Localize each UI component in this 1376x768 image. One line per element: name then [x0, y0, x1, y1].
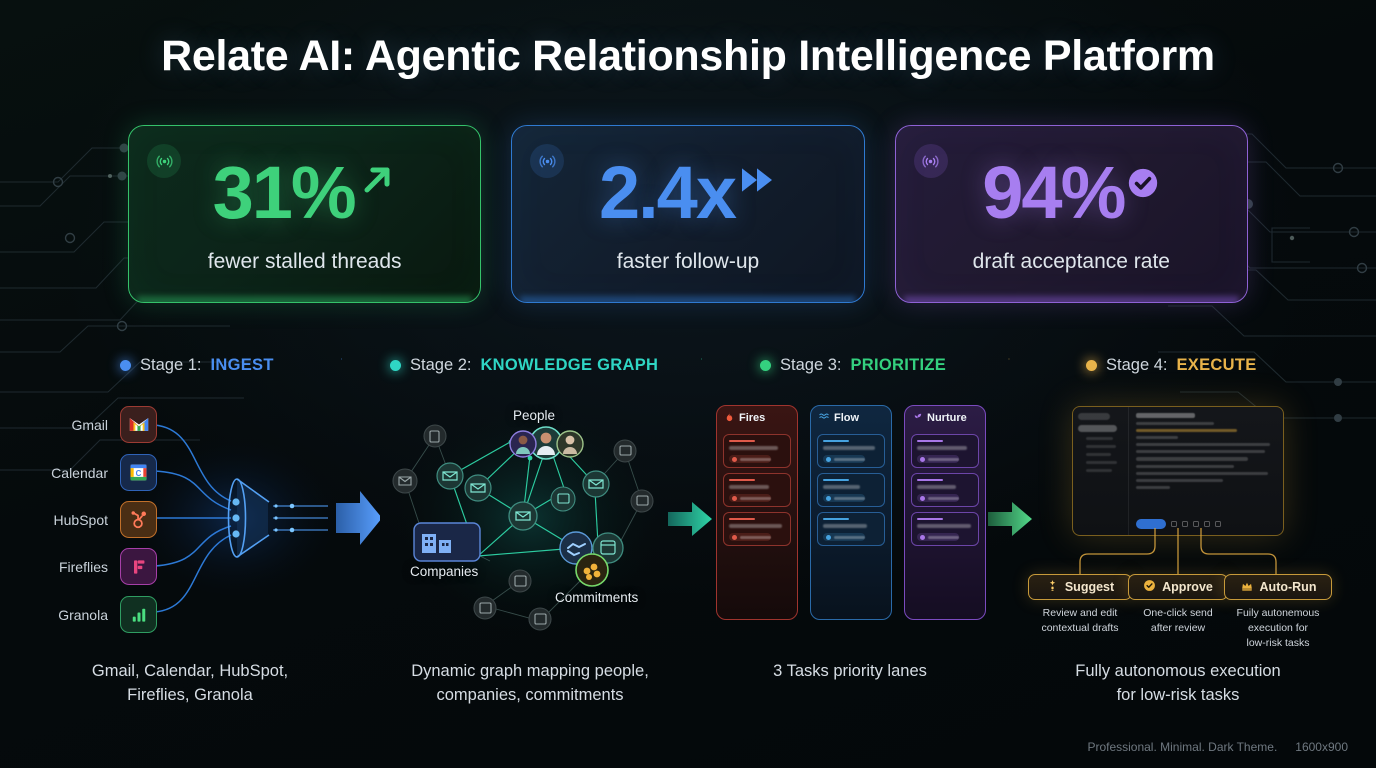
stage-prefix: Stage 4: — [1106, 356, 1167, 375]
mail-nav-line — [1086, 445, 1116, 448]
mail-subject — [1136, 413, 1195, 418]
task-card[interactable] — [911, 512, 979, 546]
stage-prefix: Stage 2: — [410, 356, 471, 375]
stage-header-strip: Stage 1: INGEST Stage 2: KNOWLEDGE GRAPH… — [0, 356, 1376, 382]
mail-line — [1136, 465, 1234, 468]
stage-dot-2 — [390, 360, 401, 371]
task-card[interactable] — [723, 473, 791, 507]
fireflies-icon — [120, 548, 157, 585]
mail-recipient — [1136, 422, 1214, 425]
image-icon[interactable] — [1204, 521, 1210, 527]
stage-label-1: Stage 1: INGEST — [120, 356, 274, 375]
source-row-hubspot[interactable]: HubSpot — [32, 501, 157, 538]
link-icon[interactable] — [1182, 521, 1188, 527]
schedule-icon[interactable] — [1215, 521, 1221, 527]
priority-lane-nurture[interactable]: Nurture — [904, 405, 986, 620]
footer-size: 1600x900 — [1295, 740, 1348, 754]
mail-highlight — [1136, 429, 1237, 432]
stage-key: KNOWLEDGE GRAPH — [480, 356, 658, 375]
mail-nav-item[interactable] — [1078, 425, 1117, 432]
kpi-value: 94% — [896, 156, 1247, 230]
slide-canvas: Relate AI: Agentic Relationship Intellig… — [0, 0, 1376, 768]
source-row-granola[interactable]: Granola — [32, 596, 157, 633]
mail-line — [1136, 443, 1270, 446]
kpi-value: 2.4x — [512, 156, 863, 230]
circuit-background — [0, 0, 1376, 768]
task-card[interactable] — [723, 434, 791, 468]
lane-title: Fires — [739, 412, 765, 424]
action-label: Approve — [1162, 580, 1213, 594]
hubspot-icon — [120, 501, 157, 538]
mail-nav-line — [1086, 461, 1117, 464]
mail-nav-line — [1086, 437, 1113, 440]
stage-prefix: Stage 3: — [780, 356, 841, 375]
kpi-value: 31% — [129, 156, 480, 230]
stage-3-caption: 3 Tasks priority lanes — [700, 660, 1000, 684]
kpi-label: faster follow-up — [512, 250, 863, 274]
task-card[interactable] — [817, 512, 885, 546]
mail-nav-item[interactable] — [1078, 413, 1110, 420]
graph-label-commitments: Commitments — [555, 590, 638, 605]
flame-icon — [724, 411, 735, 425]
stage-label-4: Stage 4: EXECUTE — [1086, 356, 1257, 375]
attach-icon[interactable] — [1171, 521, 1177, 527]
action-button-suggest[interactable]: Suggest — [1028, 574, 1132, 600]
stage-4-execute-panel: Suggest Review and edit contextual draft… — [1000, 396, 1360, 644]
source-row-fireflies[interactable]: Fireflies — [32, 548, 157, 585]
stage-4-caption: Fully autonomous execution for low-risk … — [1028, 660, 1328, 708]
fast-forward-icon — [737, 138, 777, 212]
stage-label-3: Stage 3: PRIORITIZE — [760, 356, 946, 375]
check-circle-icon — [1143, 579, 1156, 595]
priority-lane-flow[interactable]: Flow — [810, 405, 892, 620]
task-card[interactable] — [723, 512, 791, 546]
svg-text:C: C — [136, 469, 142, 478]
gmail-icon — [120, 406, 157, 443]
source-label: Calendar — [32, 465, 108, 481]
lane-header: Flow — [811, 406, 891, 429]
task-card[interactable] — [911, 434, 979, 468]
source-label: Granola — [32, 607, 108, 623]
action-button-auto-run[interactable]: Auto-Run — [1224, 574, 1332, 600]
kpi-card-draft-acceptance-rate: 94% draft acceptance rate — [895, 125, 1248, 303]
action-button-approve[interactable]: Approve — [1128, 574, 1228, 600]
stage-3-prioritize-panel: Fires Flow — [716, 405, 986, 630]
email-draft-window[interactable] — [1072, 406, 1284, 536]
stage-arrow-1-2 — [285, 358, 389, 360]
mail-nav-line — [1086, 469, 1112, 472]
stage-prefix: Stage 1: — [140, 356, 201, 375]
stage-arrow-3-4 — [945, 358, 1063, 360]
mail-line — [1136, 436, 1178, 439]
mail-line — [1136, 450, 1265, 453]
mail-body — [1129, 407, 1283, 535]
footer: Professional. Minimal. Dark Theme. 1600x… — [1087, 740, 1348, 754]
waves-icon — [818, 411, 830, 425]
graph-label-people: People — [513, 408, 555, 423]
footer-note: Professional. Minimal. Dark Theme. — [1087, 740, 1277, 754]
priority-lane-fires[interactable]: Fires — [716, 405, 798, 620]
stage-arrow-2-3 — [645, 358, 749, 360]
stage-2-knowledge-graph-panel: People Companies Commitments — [380, 396, 680, 640]
stage-key: INGEST — [210, 356, 273, 375]
stage-dot-4 — [1086, 360, 1097, 371]
granola-icon — [120, 596, 157, 633]
kpi-card-row: 31% fewer stalled threads 2.4x — [128, 125, 1248, 303]
mail-nav-line — [1086, 453, 1111, 456]
kpi-label: fewer stalled threads — [129, 250, 480, 274]
flow-arrow-graph-to-lanes — [668, 500, 714, 538]
stage-2-caption: Dynamic graph mapping people, companies,… — [370, 660, 690, 708]
action-caption-auto-run: Fuily autonemous execution for low-risk … — [1208, 606, 1348, 651]
lane-header: Nurture — [905, 406, 985, 429]
mail-line — [1136, 479, 1223, 482]
crown-icon — [1240, 579, 1254, 595]
kpi-card-faster-follow-up: 2.4x faster follow-up — [511, 125, 864, 303]
action-label: Suggest — [1065, 580, 1114, 594]
source-label: Gmail — [32, 417, 108, 433]
mail-line — [1136, 457, 1248, 460]
kpi-card-fewer-stalled-threads: 31% fewer stalled threads — [128, 125, 481, 303]
emoji-icon[interactable] — [1193, 521, 1199, 527]
mail-signature — [1136, 486, 1170, 489]
stage-1-ingest-panel: Gmail Calendar C — [40, 396, 380, 640]
sprout-icon — [912, 411, 923, 425]
arrow-up-right-icon — [357, 138, 397, 212]
lane-header: Fires — [717, 406, 797, 429]
mail-sidebar — [1073, 407, 1129, 535]
action-label: Auto-Run — [1260, 580, 1317, 594]
task-card[interactable] — [817, 473, 885, 507]
calendar-icon: C — [120, 454, 157, 491]
task-card[interactable] — [911, 473, 979, 507]
task-card[interactable] — [817, 434, 885, 468]
source-row-calendar[interactable]: Calendar C — [32, 454, 157, 491]
source-label: Fireflies — [32, 559, 108, 575]
source-row-gmail[interactable]: Gmail — [32, 406, 157, 443]
page-title: Relate AI: Agentic Relationship Intellig… — [0, 32, 1376, 81]
stage-1-caption: Gmail, Calendar, HubSpot, Fireflies, Gra… — [40, 660, 340, 708]
lane-title: Flow — [834, 412, 859, 424]
kpi-label: draft acceptance rate — [896, 250, 1247, 274]
stage-dot-1 — [120, 360, 131, 371]
stage-key: EXECUTE — [1176, 356, 1256, 375]
graph-label-companies: Companies — [410, 564, 478, 579]
stage-key: PRIORITIZE — [850, 356, 946, 375]
lightbulb-icon — [1046, 579, 1059, 595]
lane-title: Nurture — [927, 412, 967, 424]
check-circle-icon — [1126, 138, 1160, 212]
stage-dot-3 — [760, 360, 771, 371]
mail-line — [1136, 472, 1268, 475]
stage-label-2: Stage 2: KNOWLEDGE GRAPH — [390, 356, 658, 375]
source-label: HubSpot — [32, 512, 108, 528]
